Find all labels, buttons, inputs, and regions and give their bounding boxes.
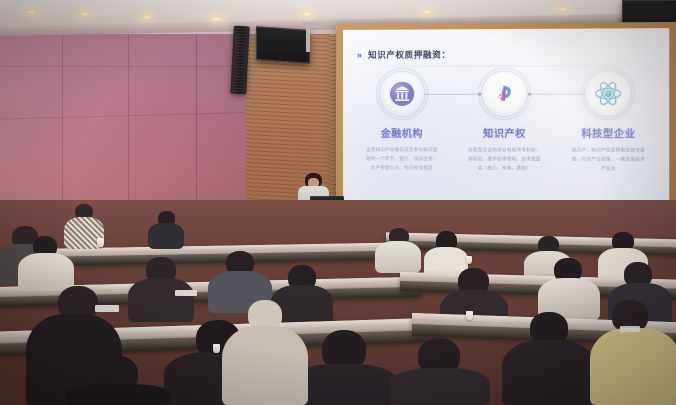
icon-halo [586, 71, 631, 116]
ip-logo-icon [492, 82, 516, 106]
slide-column-financial-institutions: 金融机构 运用知识产权融资成为参与知识金融的一个环节，银行、保险出资、资产管理公… [351, 72, 453, 208]
paper-cup [213, 344, 220, 353]
downlight-icon [210, 16, 224, 22]
chevron-double-right-icon: » [357, 50, 361, 59]
slide-column-tech-enterprises: 科技型企业 知识产、知识产权质押融资融资渠道，符合产业政策，一路发展技术产业化 [556, 71, 661, 209]
slide-columns: 金融机构 运用知识产权融资成为参与知识金融的一个环节，银行、保险出资、资产管理公… [351, 71, 661, 209]
paper-sheet [175, 290, 197, 296]
paper-cup [466, 256, 472, 264]
column-heading: 科技型企业 [581, 125, 635, 140]
projection-screen-frame: · · · · · · · · · · · · » 知识产权质押融资： [336, 22, 676, 221]
icon-halo [380, 72, 424, 116]
downlight-icon [78, 11, 92, 17]
downlight-icon [556, 6, 570, 12]
column-body-text: 运用知识产权融资成为参与知识金融的一个环节，银行、保险出资、资产管理公司、知识权… [366, 146, 438, 173]
column-body-text: 知识产、知识产权质押融资融资渠道，符合产业政策，一路发展技术产业化 [571, 146, 645, 174]
downlight-icon [300, 11, 314, 17]
column-body-text: 科技型企业所持公有技术专利权、商标权、著作权等权利，技术成量高（核心、专利、质权… [468, 146, 541, 174]
paper-sheet [95, 305, 119, 312]
ceiling-speaker-box [256, 26, 310, 64]
bank-building-icon [389, 81, 415, 107]
slide-title: 知识产权质押融资： [368, 48, 451, 60]
slide-title-row: » 知识产权质押融资： [357, 48, 451, 60]
atom-icon [594, 79, 623, 108]
icon-halo [482, 71, 527, 116]
slide-header-mark: · · · · · · · · · · · · [593, 33, 654, 38]
projection-screen: · · · · · · · · · · · · » 知识产权质押融资： [343, 28, 669, 215]
downlight-icon [140, 14, 154, 20]
downlight-icon [24, 9, 38, 15]
column-heading: 金融机构 [381, 125, 423, 140]
slide-column-intellectual-property: 知识产权 科技型企业所持公有技术专利权、商标权、著作权等权利，技术成量高（核心、… [453, 71, 556, 208]
column-heading: 知识产权 [483, 125, 526, 140]
paper-cup [466, 311, 473, 320]
paper-sheet [620, 326, 640, 332]
speaker-bracket [306, 26, 310, 52]
downlight-icon [420, 9, 434, 15]
lecture-hall-photo: · · · · · · · · · · · · » 知识产权质押融资： [0, 0, 676, 405]
paper-cup [97, 238, 104, 247]
